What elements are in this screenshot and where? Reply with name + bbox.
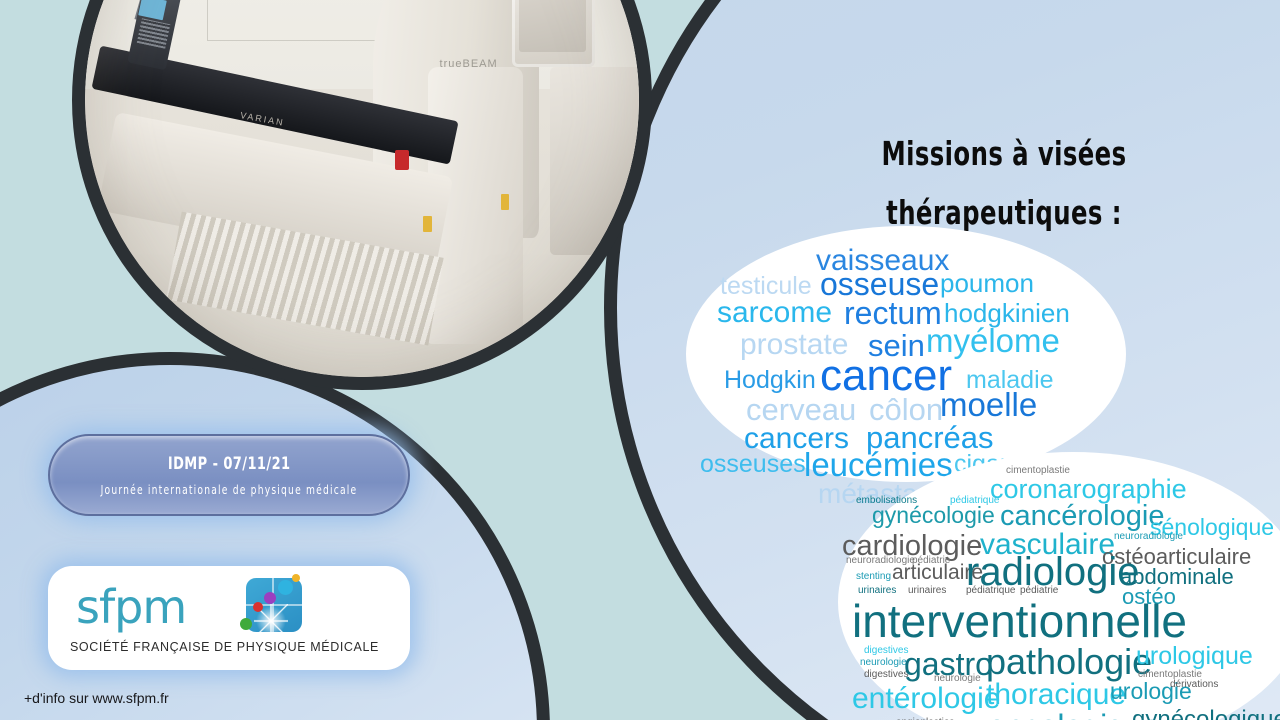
word-cloud-term: digestives — [864, 646, 908, 656]
word-cloud-term: osseuses — [700, 452, 806, 477]
idmp-badge-title: IDMP - 07/11/21 — [168, 454, 291, 474]
word-cloud-term: entérologie — [852, 684, 1000, 714]
slide-canvas: trueBEAM VARIAN Missions à visées thérap… — [0, 0, 1280, 720]
linac-photo-circle: trueBEAM VARIAN — [72, 0, 652, 390]
idmp-event-badge[interactable]: IDMP - 07/11/21 Journée internationale d… — [48, 434, 410, 516]
footer-info: +d'info sur www.sfpm.fr — [24, 690, 169, 706]
word-cloud-term: neuroradiologie — [1114, 532, 1183, 542]
word-cloud-term: poumon — [940, 270, 1034, 296]
word-cloud-term: gynécologique — [1132, 708, 1280, 720]
slide-title: Missions à visées thérapeutiques : — [791, 124, 1217, 242]
therapeutic-missions-word-cloud: vaisseauxtesticuleosseusepoumonsarcomere… — [686, 226, 1126, 482]
word-cloud-term: gynécologie — [872, 504, 995, 527]
sfpm-logo-box[interactable]: sfpm SOCIÉTÉ FRANÇAISE DE PHYSIQUE MÉDIC… — [48, 566, 410, 670]
word-cloud-term: moelle — [940, 388, 1037, 421]
word-cloud-term: urologique — [1136, 644, 1253, 669]
word-cloud-term: cerveau — [746, 394, 856, 425]
word-cloud-term: digestives — [864, 670, 908, 680]
interventional-radiology-word-cloud: cimentoplastiecoronarographieembolisatio… — [838, 452, 1280, 720]
linac-photo: trueBEAM VARIAN — [85, 0, 639, 377]
word-cloud-term: interventionnelle — [852, 598, 1187, 644]
emblem-dot-red — [253, 602, 263, 612]
emblem-dot-yellow — [292, 574, 300, 582]
word-cloud-term: dérivations — [1170, 680, 1218, 690]
word-cloud-term: pathologie — [986, 644, 1152, 680]
sfpm-wordmark: sfpm — [76, 580, 186, 634]
word-cloud-term: cancérologie — [1000, 502, 1164, 531]
emblem-dot-green — [240, 618, 252, 630]
word-cloud-term: coronarographie — [990, 476, 1187, 503]
emblem-dot-purple — [264, 592, 276, 604]
word-cloud-term: thoracique — [986, 680, 1126, 710]
word-cloud-term: sarcome — [717, 298, 832, 328]
title-line-1: Missions à visées — [791, 124, 1217, 183]
emblem-dot-cyan — [278, 580, 293, 595]
word-cloud-term: stenting — [856, 572, 891, 582]
sfpm-subtitle: SOCIÉTÉ FRANÇAISE DE PHYSIQUE MÉDICALE — [70, 640, 379, 654]
word-cloud-term: Hodgkin — [724, 368, 816, 393]
word-cloud-term: neurologie — [860, 658, 907, 668]
idmp-badge-subtitle: Journée internationale de physique médic… — [101, 483, 358, 497]
